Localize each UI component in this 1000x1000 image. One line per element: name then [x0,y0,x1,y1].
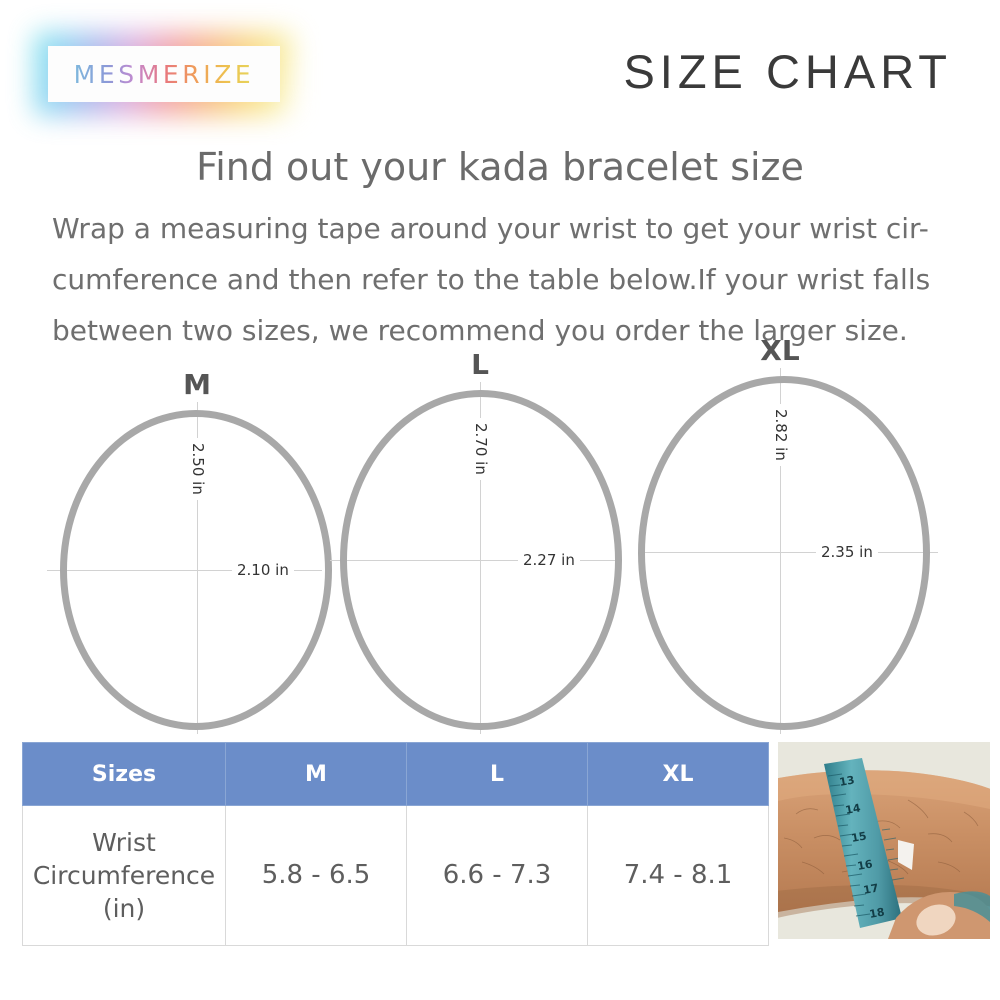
intro-line-2: cumference and then refer to the table b… [52,254,952,305]
row-label-line-1: Wrist [24,826,224,859]
oval-group-l: L 2.70 in 2.27 in [330,340,660,740]
brand-logo: MESMERIZE [48,46,280,102]
oval-height-label-m: 2.50 in [189,438,207,500]
wrist-photo-illustration: 13 14 15 16 17 18 [778,742,990,939]
intro-paragraph: Wrap a measuring tape around your wrist … [52,203,952,356]
oval-width-label-xl: 2.35 in [816,543,878,561]
headline: Find out your kada bracelet size [0,145,1000,189]
table-header-row: Sizes M L XL [23,743,769,806]
table-cell-m: 5.8 - 6.5 [226,806,407,946]
oval-height-label-xl: 2.82 in [772,404,790,466]
svg-text:18: 18 [868,905,885,920]
oval-group-xl: XL 2.82 in 2.35 in [620,340,1000,740]
page-title: SIZE CHART [623,44,952,99]
svg-text:14: 14 [844,801,862,817]
oval-diagrams: M 2.50 in 2.10 in L 2.70 in 2.27 in XL 2… [0,340,1000,740]
table-header-xl: XL [588,743,769,806]
oval-width-label-l: 2.27 in [518,551,580,569]
size-table: Sizes M L XL Wrist Circumference (in) 5.… [22,742,769,946]
logo-box: MESMERIZE [48,46,280,102]
table-cell-l: 6.6 - 7.3 [407,806,588,946]
wrist-measurement-photo: 13 14 15 16 17 18 [778,742,990,939]
oval-group-m: M 2.50 in 2.10 in [0,340,340,740]
table-header-sizes: Sizes [23,743,226,806]
svg-text:16: 16 [856,857,874,873]
oval-label-xl: XL [760,334,799,367]
table-row: Wrist Circumference (in) 5.8 - 6.5 6.6 -… [23,806,769,946]
intro-line-1: Wrap a measuring tape around your wrist … [52,203,952,254]
svg-text:13: 13 [838,773,855,788]
oval-label-l: L [471,348,489,381]
oval-height-label-l: 2.70 in [472,418,490,480]
row-label-line-3: (in) [24,892,224,925]
table-header-m: M [226,743,407,806]
table-row-label: Wrist Circumference (in) [23,806,226,946]
table-cell-xl: 7.4 - 8.1 [588,806,769,946]
table-header-l: L [407,743,588,806]
svg-text:17: 17 [862,881,879,896]
svg-text:15: 15 [850,829,867,844]
logo-text: MESMERIZE [74,60,255,89]
oval-label-m: M [183,368,211,401]
row-label-line-2: Circumference [24,859,224,892]
oval-width-label-m: 2.10 in [232,561,294,579]
